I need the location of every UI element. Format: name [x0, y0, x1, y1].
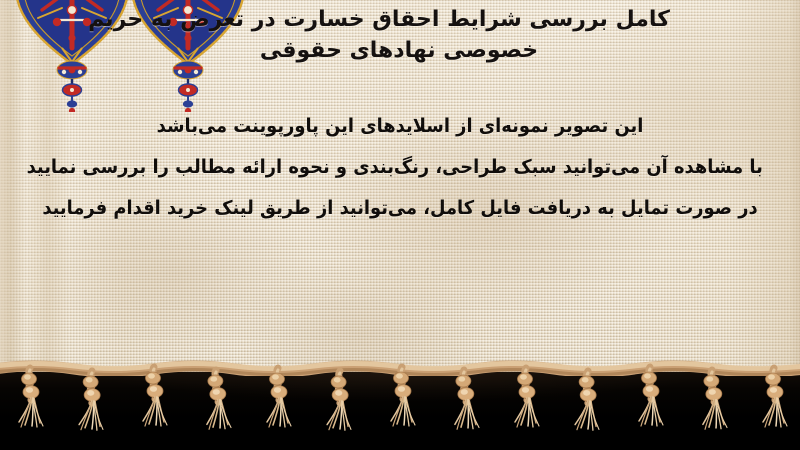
slide-body: این تصویر نمونه‌ای از اسلایدهای این پاور… — [14, 106, 786, 229]
title-line-1: کامل بررسی شرایط احقاق خسارت در تعرض به … — [16, 4, 782, 35]
body-line-3: در صورت تمایل به دریافت فایل کامل، می‌تو… — [37, 188, 763, 229]
body-line-1: این تصویر نمونه‌ای از اسلایدهای این پاور… — [37, 106, 763, 147]
title-line-2: خصوصی نهادهای حقوقی — [16, 35, 782, 66]
text-layer: کامل بررسی شرایط احقاق خسارت در تعرض به … — [0, 0, 800, 380]
slide-canvas: کامل بررسی شرایط احقاق خسارت در تعرض به … — [0, 0, 800, 450]
body-line-2: با مشاهده آن می‌توانید سبک طراحی، رنگ‌بن… — [37, 147, 763, 188]
slide-title: کامل بررسی شرایط احقاق خسارت در تعرض به … — [16, 4, 782, 66]
